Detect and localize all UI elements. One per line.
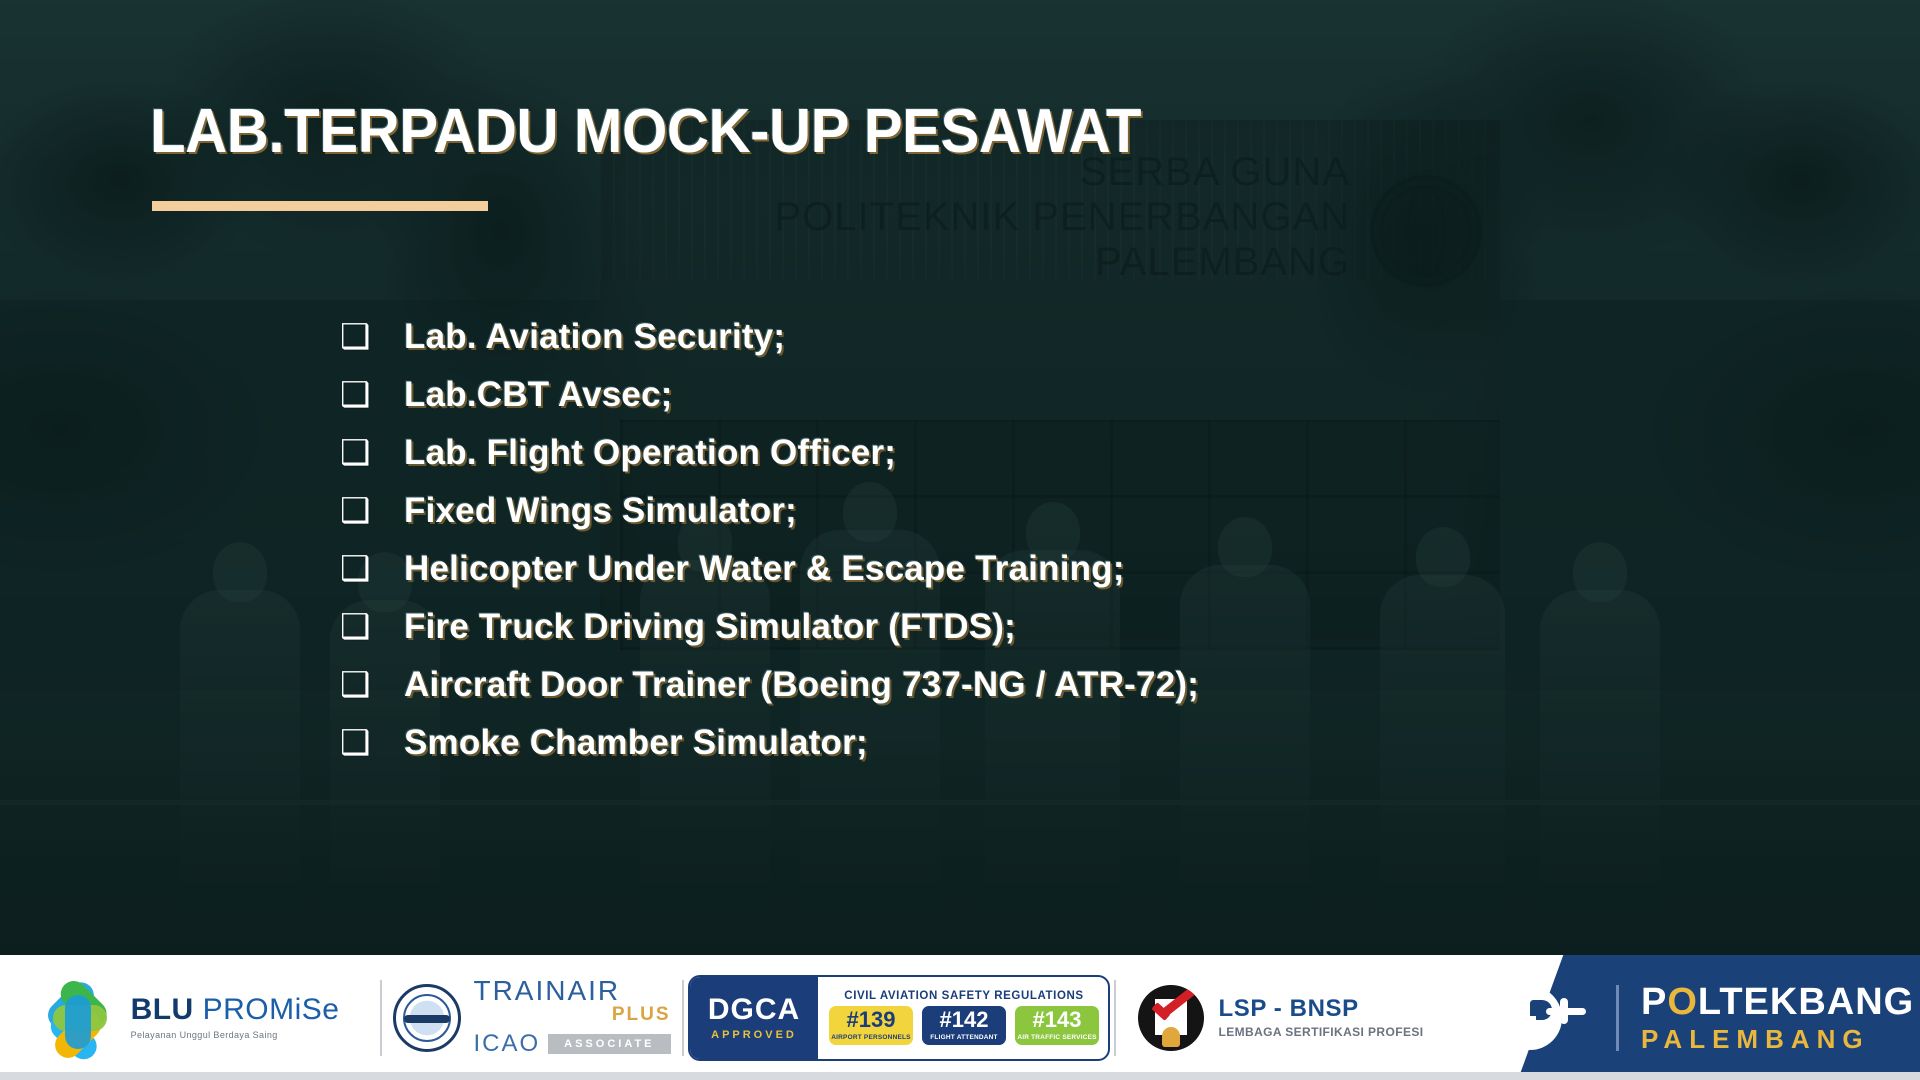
list-item: ❑ Lab. Aviation Security; xyxy=(340,312,1640,370)
casr-number: #139 xyxy=(847,1009,896,1031)
trainair-plus-label: PLUS xyxy=(473,1005,670,1026)
casr-title: CIVIL AVIATION SAFETY REGULATIONS xyxy=(829,990,1099,1002)
list-item: ❑ Helicopter Under Water & Escape Traini… xyxy=(340,544,1640,602)
poltekbang-plane-icon xyxy=(1516,986,1594,1050)
list-item-label: Helicopter Under Water & Escape Training… xyxy=(404,544,1125,594)
list-item-label: Aircraft Door Trainer (Boeing 737-NG / A… xyxy=(404,660,1199,710)
presentation-slide: SERBA GUNA POLITEKNIK PENERBANGAN PALEMB… xyxy=(0,0,1920,1080)
blu-name-bold: BLU xyxy=(131,993,194,1026)
list-item: ❑ Smoke Chamber Simulator; xyxy=(340,718,1640,776)
list-item-label: Lab. Aviation Security; xyxy=(404,312,785,362)
logo-poltekbang-palembang: POLTEKBANG PALEMBANG xyxy=(1446,955,1920,1080)
blu-name-light: PROMiSe xyxy=(203,993,340,1026)
poltekbang-divider xyxy=(1616,985,1619,1051)
footer-bottom-strip xyxy=(0,1072,1920,1080)
checkbox-square-icon: ❑ xyxy=(340,544,404,594)
lsp-checkmark-icon xyxy=(1138,985,1204,1051)
logo-trainair-plus: TRAINAIR PLUS ICAO ASSOCIATE xyxy=(382,955,682,1080)
list-item: ❑ Lab. Flight Operation Officer; xyxy=(340,428,1640,486)
list-item-label: Fire Truck Driving Simulator (FTDS); xyxy=(404,602,1016,652)
blu-wordmark: BLU PROMiSe Pelayanan Unggul Berdaya Sai… xyxy=(131,995,340,1040)
logo-blu-promise: BLU PROMiSe Pelayanan Unggul Berdaya Sai… xyxy=(0,955,380,1080)
logo-lsp-bnsp: LSP - BNSP LEMBAGA SERTIFIKASI PROFESI xyxy=(1116,955,1446,1080)
logo-dgca-approved: DGCA APPROVED CIVIL AVIATION SAFETY REGU… xyxy=(684,955,1114,1080)
dgca-approved-label: APPROVED xyxy=(711,1029,797,1041)
lsp-subtitle: LEMBAGA SERTIFIKASI PROFESI xyxy=(1218,1026,1423,1039)
checkbox-square-icon: ❑ xyxy=(340,718,404,768)
poltekbang-wordmark: POLTEKBANG xyxy=(1641,983,1914,1022)
list-item: ❑ Lab.CBT Avsec; xyxy=(340,370,1640,428)
casr-number: #143 xyxy=(1033,1009,1082,1031)
checkbox-square-icon: ❑ xyxy=(340,312,404,362)
casr-badge-139: #139 AIRPORT PERSONNELS xyxy=(829,1006,913,1045)
dgca-wordmark: DGCA xyxy=(708,995,800,1025)
checkbox-square-icon: ❑ xyxy=(340,428,404,478)
checkbox-square-icon: ❑ xyxy=(340,602,404,652)
trainair-wordmark: TRAINAIR xyxy=(473,977,670,1005)
poltekbang-name-rest: LTEKBANG xyxy=(1698,981,1914,1023)
lsp-title: LSP - BNSP xyxy=(1218,996,1423,1022)
checkbox-square-icon: ❑ xyxy=(340,370,404,420)
list-item-label: Fixed Wings Simulator; xyxy=(404,486,797,536)
casr-label: AIR TRAFFIC SERVICES xyxy=(1017,1034,1096,1041)
blu-pinwheel-icon xyxy=(41,981,115,1055)
icao-label: ICAO xyxy=(473,1030,540,1058)
poltekbang-name-p: P xyxy=(1641,981,1667,1023)
list-item-label: Lab.CBT Avsec; xyxy=(404,370,673,420)
title-underline-accent xyxy=(152,201,488,211)
slide-title: LAB.TERPADU MOCK-UP PESAWAT xyxy=(150,96,1141,167)
casr-label: AIRPORT PERSONNELS xyxy=(831,1034,910,1041)
checkbox-square-icon: ❑ xyxy=(340,660,404,710)
poltekbang-city: PALEMBANG xyxy=(1641,1026,1914,1053)
casr-badge-142: #142 FLIGHT ATTENDANT xyxy=(922,1006,1006,1045)
icao-emblem-icon xyxy=(393,984,461,1052)
list-item-label: Smoke Chamber Simulator; xyxy=(404,718,868,768)
footer-logo-bar: BLU PROMiSe Pelayanan Unggul Berdaya Sai… xyxy=(0,955,1920,1080)
list-item: ❑ Fire Truck Driving Simulator (FTDS); xyxy=(340,602,1640,660)
list-item: ❑ Fixed Wings Simulator; xyxy=(340,486,1640,544)
list-item: ❑ Aircraft Door Trainer (Boeing 737-NG /… xyxy=(340,660,1640,718)
checkbox-square-icon: ❑ xyxy=(340,486,404,536)
associate-badge: ASSOCIATE xyxy=(548,1034,670,1054)
blu-tagline: Pelayanan Unggul Berdaya Saing xyxy=(131,1031,340,1040)
bullet-list: ❑ Lab. Aviation Security; ❑ Lab.CBT Avse… xyxy=(340,312,1640,776)
casr-badge-143: #143 AIR TRAFFIC SERVICES xyxy=(1015,1006,1099,1045)
list-item-label: Lab. Flight Operation Officer; xyxy=(404,428,896,478)
casr-number: #142 xyxy=(940,1009,989,1031)
dgca-badge-left: DGCA APPROVED xyxy=(690,977,818,1059)
casr-label: FLIGHT ATTENDANT xyxy=(930,1034,997,1041)
poltekbang-name-o: O xyxy=(1667,981,1698,1023)
